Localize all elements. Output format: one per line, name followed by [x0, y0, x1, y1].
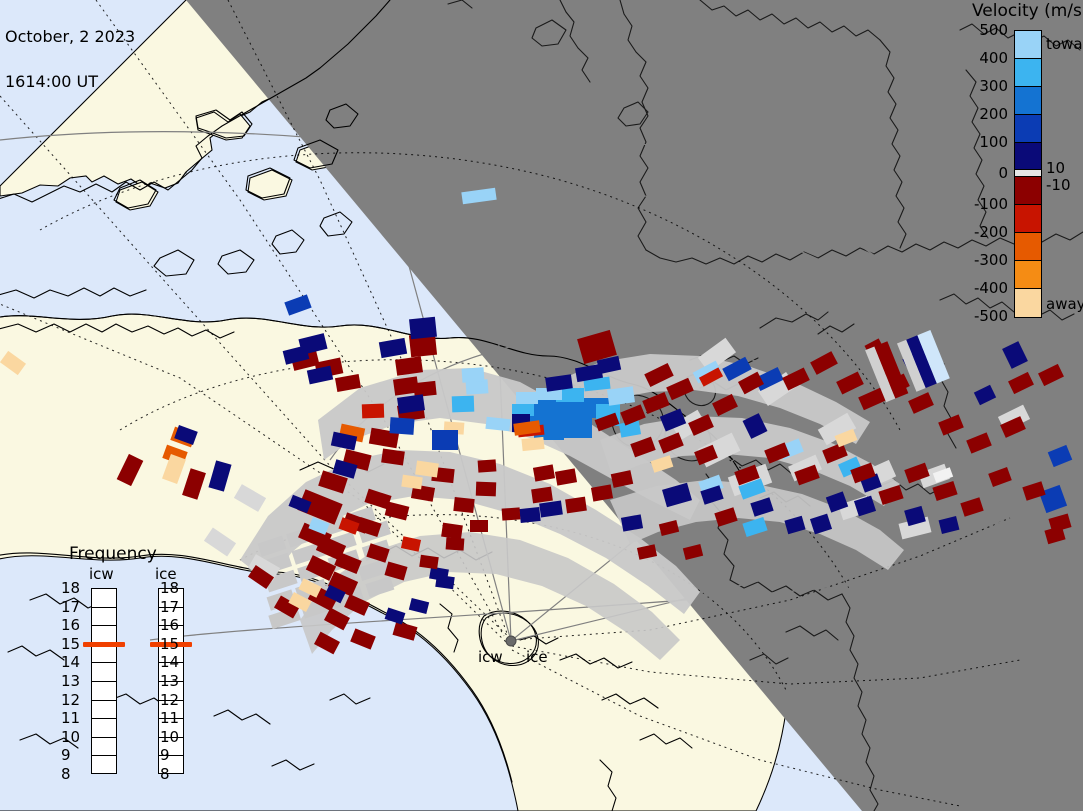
far-range-isolated-cells [865, 330, 950, 402]
frequency-cell [92, 589, 116, 608]
colorbar-label-away: away [1046, 295, 1083, 313]
frequency-cell [92, 701, 116, 720]
frequency-tick-left-12: 12 [61, 691, 80, 709]
ground-scatter-cells [240, 354, 904, 660]
frequency-tick-right-9: 9 [160, 746, 170, 764]
colorbar-band--250 [1015, 233, 1041, 261]
frequency-cell [92, 682, 116, 701]
colorbar-band-0 [1015, 170, 1041, 177]
timestamp-time: 1614:00 UT [5, 74, 135, 89]
colorbar-tick--300: -300 [974, 251, 1008, 269]
frequency-tick-left-18: 18 [61, 579, 80, 597]
frequency-legend: Frequency icwice181817171616151514141313… [55, 544, 180, 789]
colorbar-tick-0: 0 [998, 164, 1008, 182]
timestamp: October, 2 2023 1614:00 UT [5, 0, 135, 119]
frequency-cell [92, 738, 116, 757]
frequency-tick-left-11: 11 [61, 709, 80, 727]
frequency-tick-left-17: 17 [61, 598, 80, 616]
colorbar-band-150 [1015, 115, 1041, 143]
colorbar-gradient [1014, 30, 1042, 318]
frequency-legend-title: Frequency [69, 544, 157, 564]
frequency-bar-icw [91, 588, 117, 774]
colorbar-tick--400: -400 [974, 279, 1008, 297]
frequency-tick-left-14: 14 [61, 653, 80, 671]
frequency-tick-left-10: 10 [61, 728, 80, 746]
frequency-cell [92, 608, 116, 627]
colorbar-band--350 [1015, 261, 1041, 289]
ground-scatter-light-cells [204, 338, 1030, 582]
velocity-cells-east [419, 330, 1072, 589]
colorbar-band--150 [1015, 205, 1041, 233]
radar-site-labels: icwice [478, 648, 548, 666]
frequency-cell [92, 663, 116, 682]
colorbar-tick--100: -100 [974, 195, 1008, 213]
velocity-colorbar: Velocity (m/s) 5004003002001000-100-200-… [956, 0, 1083, 340]
enhanced-blue-cluster [520, 398, 612, 440]
frequency-marker-icw [83, 642, 125, 647]
frequency-cell [92, 756, 116, 775]
frequency-tick-right-17: 17 [160, 598, 179, 616]
frequency-tick-right-18: 18 [160, 579, 179, 597]
superdarn-velocity-map: October, 2 2023 1614:00 UT Velocity (m/s… [0, 0, 1083, 811]
radar-site-marker [506, 636, 516, 646]
colorbar-label-neg-threshold: -10 [1046, 176, 1071, 194]
frequency-cell [92, 719, 116, 738]
frequency-tick-left-13: 13 [61, 672, 80, 690]
site-label-ice: ice [526, 648, 548, 666]
frequency-tick-left-8: 8 [61, 765, 71, 783]
frequency-tick-right-12: 12 [160, 691, 179, 709]
frequency-tick-right-13: 13 [160, 672, 179, 690]
colorbar-band-350 [1015, 59, 1041, 87]
timestamp-date: October, 2 2023 [5, 29, 135, 44]
colorbar-tick-400: 400 [979, 49, 1008, 67]
colorbar-band--450 [1015, 289, 1041, 317]
colorbar-tick--200: -200 [974, 223, 1008, 241]
colorbar-label-pos-threshold: 10 [1046, 159, 1065, 177]
colorbar-band-450 [1015, 31, 1041, 59]
colorbar-tick-500: 500 [979, 21, 1008, 39]
colorbar-band--55 [1015, 177, 1041, 205]
frequency-column-header-icw: icw [89, 565, 114, 583]
terminator-night-shade [186, 0, 1083, 811]
colorbar-band-250 [1015, 87, 1041, 115]
colorbar-tick-labels: 5004003002001000-100-200-300-400-500 [956, 0, 1012, 340]
frequency-tick-right-10: 10 [160, 728, 179, 746]
frequency-tick-left-15: 15 [61, 635, 80, 653]
frequency-tick-right-16: 16 [160, 616, 179, 634]
frequency-tick-right-8: 8 [160, 765, 170, 783]
frequency-tick-right-15: 15 [160, 635, 179, 653]
colorbar-tick-300: 300 [979, 77, 1008, 95]
colorbar-band-55 [1015, 143, 1041, 171]
frequency-tick-right-14: 14 [160, 653, 179, 671]
site-label-icw: icw [478, 648, 526, 666]
frequency-tick-left-9: 9 [61, 746, 71, 764]
frequency-tick-right-11: 11 [160, 709, 179, 727]
frequency-cell [92, 645, 116, 664]
colorbar-tick-200: 200 [979, 105, 1008, 123]
colorbar-label-toward: toward [1046, 35, 1083, 53]
colorbar-tick--500: -500 [974, 307, 1008, 325]
frequency-tick-left-16: 16 [61, 616, 80, 634]
colorbar-tick-100: 100 [979, 133, 1008, 151]
